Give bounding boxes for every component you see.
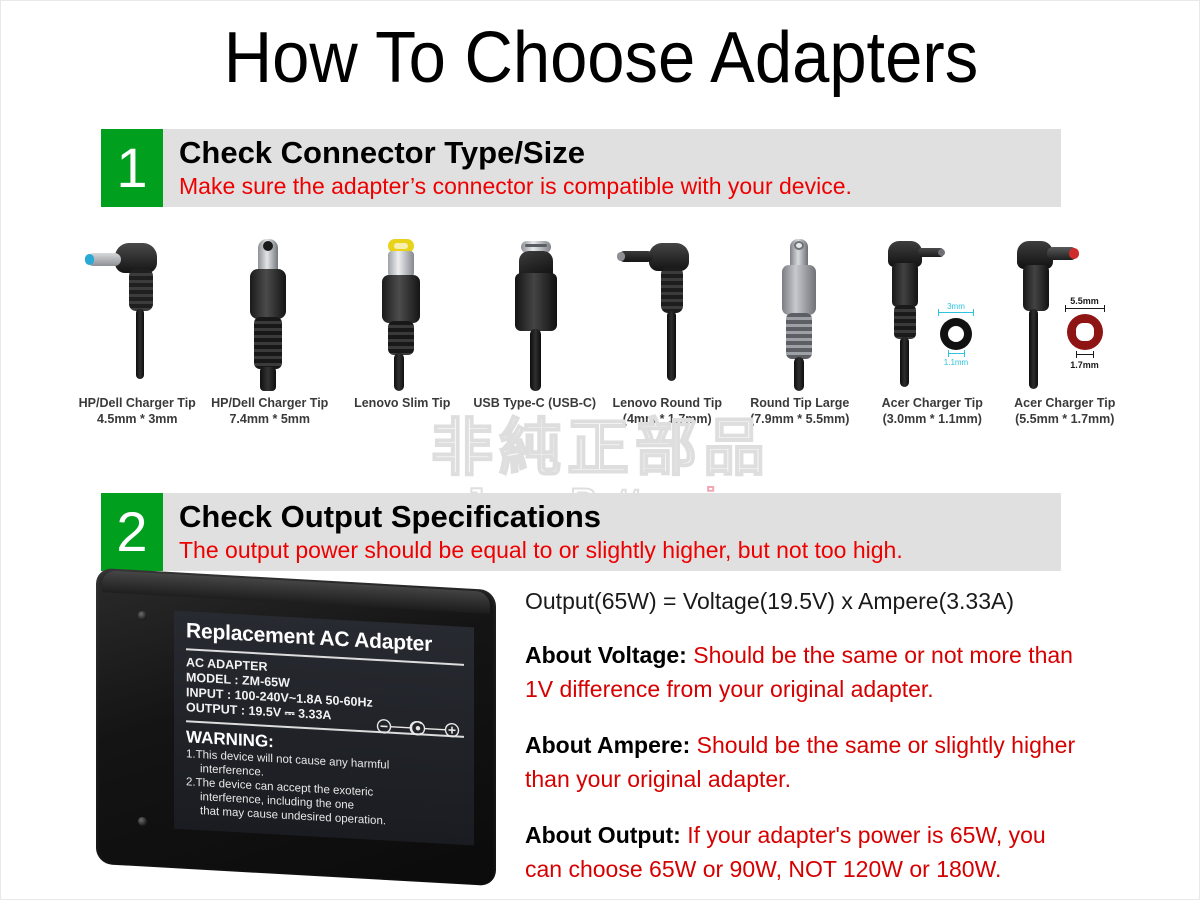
step-2-subtitle: The output power should be equal to or s… bbox=[179, 535, 1061, 565]
spec-item-output-key: About Output: bbox=[525, 822, 681, 848]
connector-gallery: HP/Dell Charger Tip 4.5mm * 3mm HP/Dell … bbox=[71, 233, 1131, 438]
output-spec-text-block: Output(65W) = Voltage(19.5V) x Ampere(3.… bbox=[525, 586, 1085, 886]
spec-item-ampere: About Ampere: Should be the same or slig… bbox=[525, 728, 1085, 796]
lenovo-slim-plug-icon bbox=[336, 233, 469, 395]
lenovo-round-plug-icon bbox=[601, 233, 734, 395]
connector-label-size: 7.4mm * 5mm bbox=[229, 411, 310, 427]
connector-item-hp-dell-4.5mm[interactable]: HP/Dell Charger Tip 4.5mm * 3mm bbox=[71, 233, 204, 438]
step-1-title: Check Connector Type/Size bbox=[179, 135, 1061, 171]
step-1-header: 1 Check Connector Type/Size Make sure th… bbox=[101, 129, 1061, 207]
acer-30-plug-icon: 3mm 1.1mm bbox=[866, 233, 999, 395]
adapter-label-heading: Replacement AC Adapter bbox=[186, 619, 464, 659]
connector-label-name: HP/Dell Charger Tip bbox=[211, 395, 328, 411]
hp-dell-74-plug-icon bbox=[204, 233, 337, 395]
spec-item-voltage: About Voltage: Should be the same or not… bbox=[525, 638, 1085, 706]
output-formula: Output(65W) = Voltage(19.5V) x Ampere(3.… bbox=[525, 586, 1085, 616]
adapter-spec-label: Replacement AC Adapter AC ADAPTER MODEL … bbox=[174, 611, 474, 846]
connector-label-size: (5.5mm * 1.7mm) bbox=[1015, 411, 1114, 427]
step-1-subtitle: Make sure the adapter’s connector is com… bbox=[179, 171, 1061, 201]
acer-55-plug-icon: 5.5mm 1.7mm bbox=[999, 233, 1132, 395]
polarity-symbol-icon bbox=[376, 718, 460, 739]
connector-item-round-large[interactable]: Round Tip Large (7.9mm * 5.5mm) bbox=[734, 233, 867, 438]
infographic-page: How To Choose Adapters 1 Check Connector… bbox=[0, 0, 1200, 900]
acer-55-ring-diagram: 5.5mm 1.7mm bbox=[1055, 295, 1117, 377]
connector-label-size: (4mm * 1.7mm) bbox=[623, 411, 712, 427]
connector-label-name: USB Type-C (USB-C) bbox=[473, 395, 596, 411]
step-1-text-group: Check Connector Type/Size Make sure the … bbox=[163, 129, 1061, 207]
connector-item-acer-5.5mm[interactable]: 5.5mm 1.7mm Acer Charger Tip (5.5mm * 1.… bbox=[999, 233, 1132, 438]
step-2-header: 2 Check Output Specifications The output… bbox=[101, 493, 1061, 571]
step-2-title: Check Output Specifications bbox=[179, 499, 1061, 535]
step-2-number-badge: 2 bbox=[101, 493, 163, 571]
usb-c-plug-icon bbox=[469, 233, 602, 395]
connector-label-size: (3.0mm * 1.1mm) bbox=[883, 411, 982, 427]
connector-label-name: Round Tip Large bbox=[750, 395, 849, 411]
acer-55-outer-dim-label: 5.5mm bbox=[1061, 295, 1109, 307]
connector-item-acer-3.0mm[interactable]: 3mm 1.1mm Acer Charger Tip (3.0mm * 1.1m… bbox=[866, 233, 999, 438]
connector-item-lenovo-round[interactable]: Lenovo Round Tip (4mm * 1.7mm) bbox=[601, 233, 734, 438]
acer-55-inner-dim-label: 1.7mm bbox=[1059, 359, 1111, 371]
connector-item-usb-c[interactable]: USB Type-C (USB-C) bbox=[469, 233, 602, 438]
adapter-photo: Replacement AC Adapter AC ADAPTER MODEL … bbox=[96, 579, 496, 879]
spec-item-ampere-key: About Ampere: bbox=[525, 732, 690, 758]
connector-item-hp-dell-7.4mm[interactable]: HP/Dell Charger Tip 7.4mm * 5mm bbox=[204, 233, 337, 438]
step-1-number-badge: 1 bbox=[101, 129, 163, 207]
adapter-screw-bottom bbox=[138, 817, 147, 827]
hp-dell-45-plug-icon bbox=[71, 233, 204, 395]
spec-item-voltage-key: About Voltage: bbox=[525, 642, 687, 668]
acer-30-ring-diagram: 3mm 1.1mm bbox=[928, 301, 986, 375]
acer-30-inner-dim-label: 1.1mm bbox=[932, 357, 980, 368]
connector-label-name: Acer Charger Tip bbox=[882, 395, 983, 411]
connector-label-size: (7.9mm * 5.5mm) bbox=[750, 411, 849, 427]
adapter-screw-top bbox=[138, 611, 147, 621]
connector-label-name: HP/Dell Charger Tip bbox=[79, 395, 196, 411]
page-title: How To Choose Adapters bbox=[43, 15, 1159, 101]
step-2-text-group: Check Output Specifications The output p… bbox=[163, 493, 1061, 571]
connector-label-size: 4.5mm * 3mm bbox=[97, 411, 178, 427]
connector-label-name: Lenovo Slim Tip bbox=[354, 395, 450, 411]
connector-label-name: Acer Charger Tip bbox=[1014, 395, 1115, 411]
round-tip-large-plug-icon bbox=[734, 233, 867, 395]
acer-30-outer-dim-label: 3mm bbox=[936, 301, 976, 312]
connector-item-lenovo-slim[interactable]: Lenovo Slim Tip bbox=[336, 233, 469, 438]
connector-label-name: Lenovo Round Tip bbox=[613, 395, 722, 411]
spec-item-output: About Output: If your adapter's power is… bbox=[525, 818, 1085, 886]
